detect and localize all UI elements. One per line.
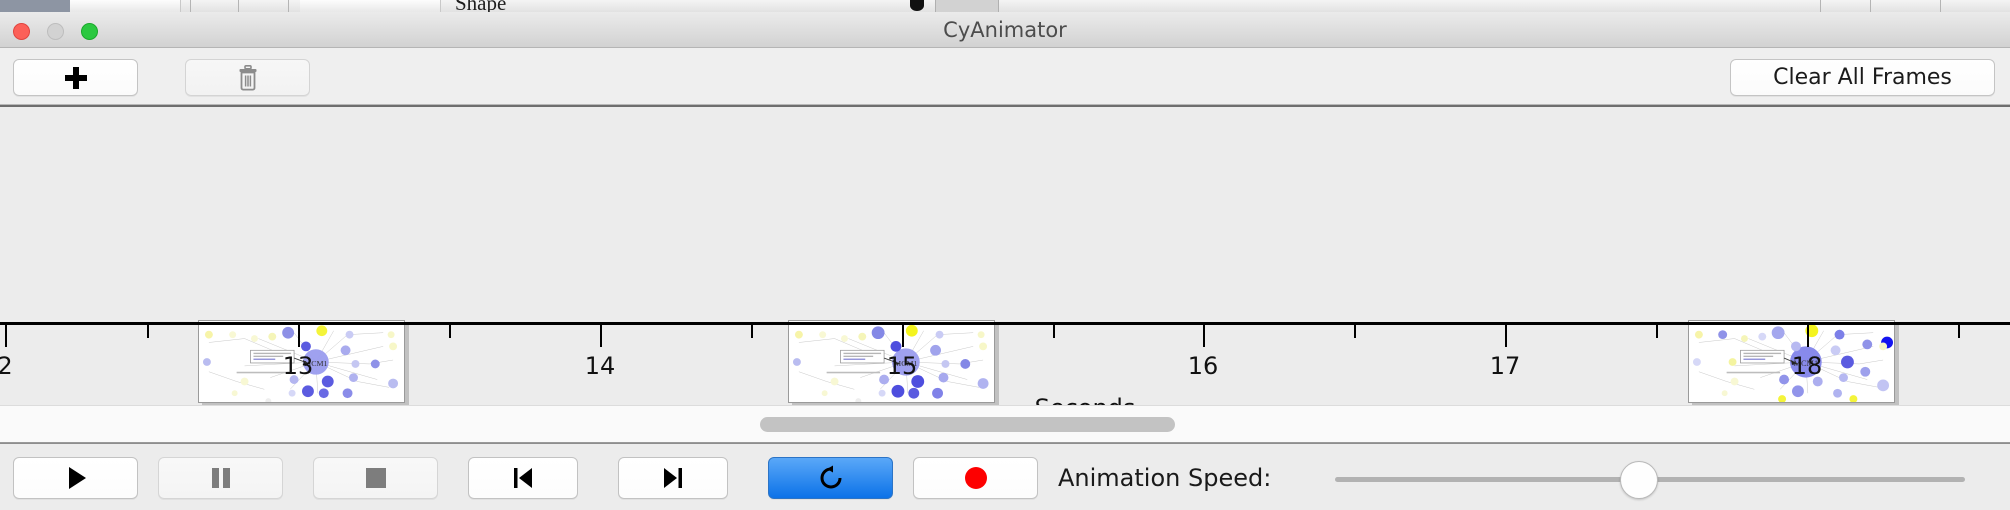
background-tick — [190, 0, 191, 12]
playback-control-bar: Animation Speed: — [0, 443, 2010, 510]
animation-speed-slider[interactable] — [1335, 477, 1965, 482]
axis-tick-label: 2 — [0, 352, 13, 380]
play-icon — [61, 463, 91, 493]
background-tick — [1870, 0, 1871, 12]
axis-tick-label: 15 — [887, 352, 918, 380]
background-tick — [238, 0, 239, 12]
animation-speed-label: Animation Speed: — [1058, 457, 1271, 499]
axis-title-text: Seconds — [1035, 394, 1136, 405]
axis-tick-major — [298, 325, 300, 347]
background-graybox — [935, 0, 999, 12]
axis-tick-minor — [449, 325, 451, 338]
axis-tick-minor — [1958, 325, 1960, 338]
axis-tick-major — [600, 325, 602, 347]
loop-button[interactable] — [768, 457, 893, 499]
skip-previous-icon — [510, 465, 536, 491]
stop-icon — [364, 466, 388, 490]
slider-thumb[interactable] — [1620, 461, 1658, 499]
cyanimator-window: Shape CyAnimator Clear All — [0, 0, 2010, 510]
axis-tick-major — [1505, 325, 1507, 347]
loop-refresh-icon — [817, 464, 845, 492]
timeline-scrollbar[interactable] — [0, 405, 2010, 443]
axis-tick-minor — [1354, 325, 1356, 338]
record-button[interactable] — [913, 457, 1038, 499]
record-icon — [963, 465, 989, 491]
background-tick — [1940, 0, 1941, 12]
axis-tick-label: 14 — [585, 352, 616, 380]
axis-tick-label: 16 — [1188, 352, 1219, 380]
background-tick — [288, 0, 289, 12]
scrollbar-thumb[interactable] — [760, 417, 1175, 432]
background-tick — [1820, 0, 1821, 12]
axis-tick-major — [5, 325, 7, 347]
delete-frame-button[interactable] — [185, 59, 310, 96]
window-title: CyAnimator — [0, 12, 2010, 48]
axis-tick-label: 18 — [1792, 352, 1823, 380]
background-blob — [910, 0, 924, 11]
add-frame-button[interactable] — [13, 59, 138, 96]
stop-button[interactable] — [313, 457, 438, 499]
axis-tick-label: 13 — [283, 352, 314, 380]
clear-all-frames-label: Clear All Frames — [1773, 65, 1952, 90]
background-dark-chunk — [0, 0, 70, 12]
axis-tick-major — [1807, 325, 1809, 347]
background-chunk — [70, 0, 181, 12]
axis-tick-minor — [751, 325, 753, 338]
background-chunk — [300, 0, 441, 12]
pause-icon — [208, 465, 234, 491]
axis-title: Seconds — [0, 394, 2010, 405]
skip-next-icon — [660, 465, 686, 491]
trash-icon — [236, 65, 260, 91]
pause-button[interactable] — [158, 457, 283, 499]
axis-tick-minor — [1656, 325, 1658, 338]
axis-tick-major — [902, 325, 904, 347]
axis-tick-major — [1203, 325, 1205, 347]
plus-icon — [64, 66, 88, 90]
toolbar: Clear All Frames — [0, 48, 2010, 105]
background-app-label: Shape — [455, 0, 506, 12]
background-window-sliver: Shape — [0, 0, 2010, 12]
timeline-panel[interactable]: MCM1 — [0, 105, 2010, 405]
play-button[interactable] — [13, 457, 138, 499]
titlebar: CyAnimator — [0, 12, 2010, 48]
axis-tick-label: 17 — [1490, 352, 1521, 380]
axis-tick-minor — [1053, 325, 1055, 338]
next-frame-button[interactable] — [618, 457, 728, 499]
clear-all-frames-button[interactable]: Clear All Frames — [1730, 59, 1995, 96]
previous-frame-button[interactable] — [468, 457, 578, 499]
axis-tick-minor — [147, 325, 149, 338]
timeline-axis-line — [0, 322, 2010, 325]
